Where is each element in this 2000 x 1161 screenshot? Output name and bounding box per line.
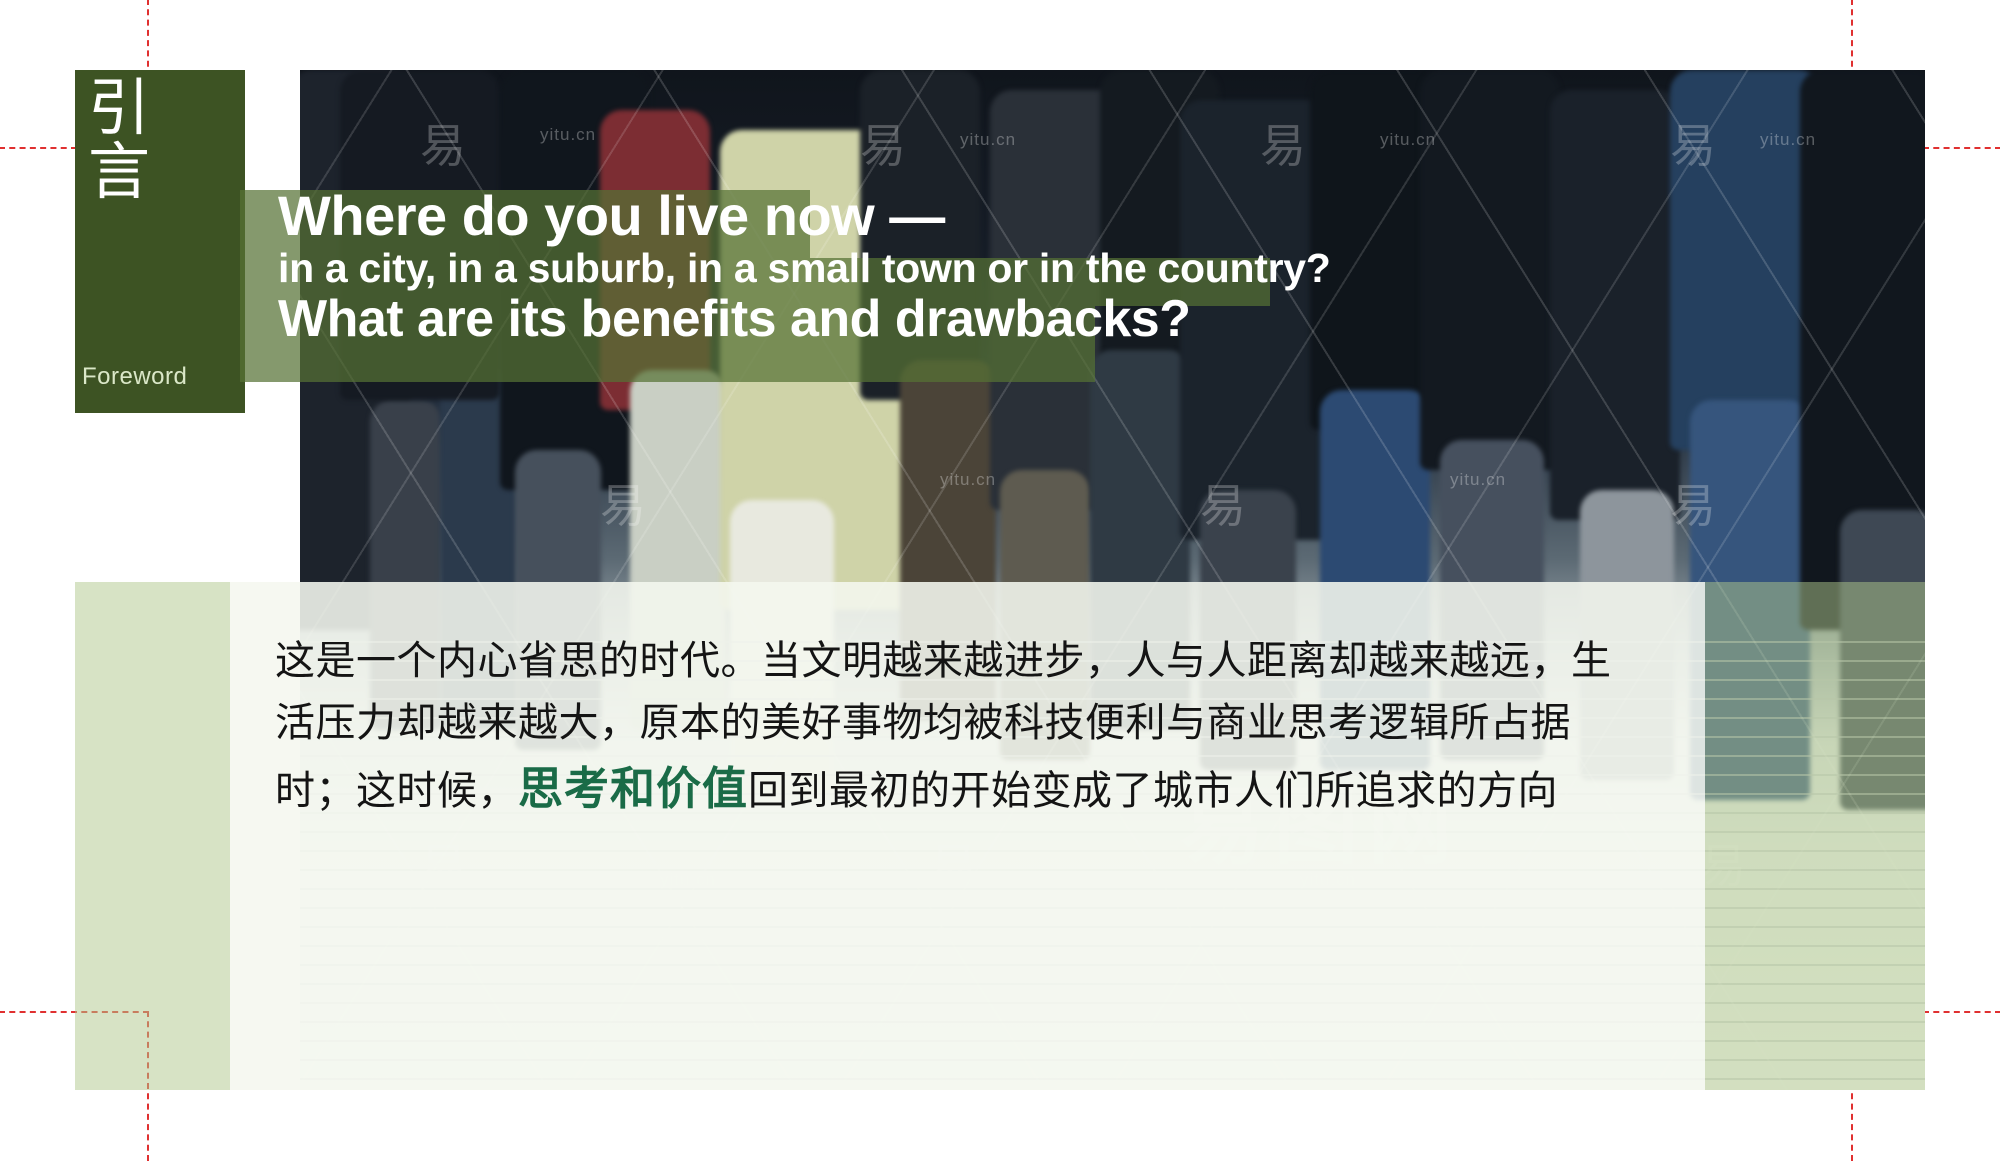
slide-canvas: 易 yitu.cn 易 yitu.cn 易 yitu.cn 易 yitu.cn … bbox=[75, 70, 1925, 1090]
headline-line-3: What are its benefits and drawbacks? bbox=[278, 290, 1398, 348]
chapter-subtitle: Foreword bbox=[82, 363, 187, 391]
headline-line-2: in a city, in a suburb, in a small town … bbox=[278, 244, 1398, 292]
body-text-highlight: 思考和价值 bbox=[518, 762, 748, 815]
body-paragraph: 这是一个内心省思的时代。当文明越来越进步，人与人距离却越来越远，生活压力却越来越… bbox=[275, 630, 1615, 824]
headline-line-1: Where do you live now — bbox=[278, 185, 1398, 248]
chapter-title-cjk: 引言 bbox=[80, 76, 158, 204]
chapter-block: 引言 Foreword bbox=[75, 70, 245, 413]
body-text-part-2: 回到最初的开始变成了城市人们所追求的方向 bbox=[748, 768, 1558, 814]
headline: Where do you live now — in a city, in a … bbox=[278, 185, 1398, 348]
